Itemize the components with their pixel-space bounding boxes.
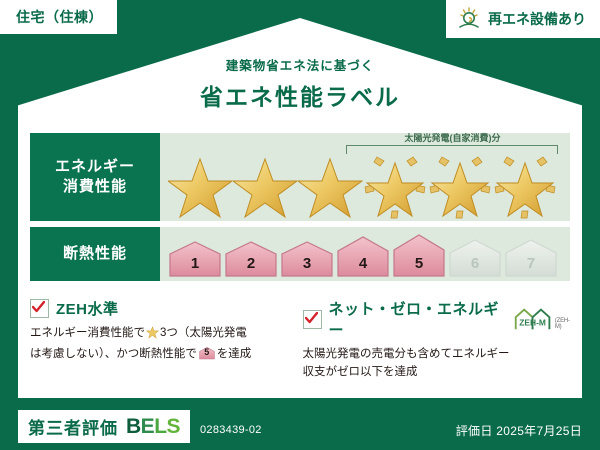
grade-number: 5 <box>392 255 446 272</box>
solar-star-icon <box>493 151 558 219</box>
grade-badge-inactive: 6 <box>448 236 502 278</box>
grade-badge: 4 <box>336 234 390 278</box>
insulation-grades-area: 1 2 3 4 5 <box>160 227 570 281</box>
energy-stars-area: 太陽光発電(自家消費)分 <box>160 133 570 221</box>
energy-performance-label-block: エネルギー 消費性能 <box>30 133 160 221</box>
sun-icon <box>456 6 482 32</box>
criterion-zeh: ZEH水準 エネルギー消費性能で3つ（太陽光発電 は考慮しない）、かつ断熱性能で… <box>30 298 303 382</box>
grade-badge-inactive: 7 <box>504 236 558 278</box>
third-party-label: 第三者評価 <box>28 414 118 439</box>
criterion-zeh-body: エネルギー消費性能で3つ（太陽光発電 は考慮しない）、かつ断熱性能で5を達成 <box>30 325 303 364</box>
bels-logo-block: 第三者評価 BELS <box>18 410 190 443</box>
criterion-zeh-title: ZEH水準 <box>56 298 119 319</box>
label-title-block: 建築物省エネ法に基づく 省エネ性能ラベル <box>0 55 600 112</box>
grade-badge-inline-number: 5 <box>199 346 215 360</box>
star-icon <box>146 330 159 342</box>
grade-badge: 1 <box>168 238 222 278</box>
insulation-performance-label-block: 断熱性能 <box>30 227 160 281</box>
grade-badge: 3 <box>280 238 334 278</box>
grade-number: 3 <box>280 255 334 272</box>
page-title: 省エネ性能ラベル <box>0 78 600 112</box>
zeh-m-logo: ZEH-M (ZEH-M) <box>512 306 575 332</box>
solar-star-icon <box>363 151 428 219</box>
criterion-net-zero-text1: 太陽光発電の売電分も含めてエネルギー <box>303 348 510 360</box>
evaluation-date-value: 2025年7月25日 <box>496 424 582 438</box>
insulation-label-line1: 断熱性能 <box>63 244 127 264</box>
title-subtitle: 建築物省エネ法に基づく <box>0 55 600 74</box>
energy-performance-label: 住宅（住棟） 再エネ設備あり 建築物省エネ法に基づく 省エネ性能ラベル <box>0 0 600 450</box>
rating-rows: エネルギー 消費性能 太陽光発電(自家消費)分 <box>30 133 570 287</box>
grade-number: 2 <box>224 255 278 272</box>
grade-badge: 5 <box>392 232 446 278</box>
criterion-zeh-text1: エネルギー消費性能で <box>30 327 145 339</box>
energy-performance-row: エネルギー 消費性能 太陽光発電(自家消費)分 <box>30 133 570 221</box>
solar-bracket-note: 太陽光発電(自家消費)分 <box>345 131 560 144</box>
zeh-m-caption: (ZEH-M) <box>555 318 575 332</box>
criterion-zeh-text3: は考慮しない）、かつ断熱性能で <box>30 348 197 360</box>
grade-badge: 2 <box>224 238 278 278</box>
solar-star-icon <box>428 151 493 219</box>
criterion-zeh-text2: 3つ（太陽光発電 <box>160 327 247 339</box>
grade-number: 1 <box>168 255 222 272</box>
bels-logo: BELS <box>126 415 180 439</box>
star-icon <box>233 151 298 219</box>
criterion-net-zero-body: 太陽光発電の売電分も含めてエネルギー 収支がゼロ以下を達成 <box>303 346 576 382</box>
grade-number: 6 <box>448 255 502 272</box>
star-icon <box>168 151 233 219</box>
check-icon <box>303 310 322 329</box>
criterion-net-zero: ネット・ゼロ・エネルギー ZEH-M (ZEH-M) 太陽光発電の売電分も含めて… <box>303 298 576 382</box>
energy-label-line2: 消費性能 <box>63 177 127 197</box>
criterion-zeh-header: ZEH水準 <box>30 298 303 319</box>
renewable-equipment-badge: 再エネ設備あり <box>446 0 600 38</box>
grade-badge-inline: 5 <box>199 346 215 360</box>
criterion-zeh-text4: を達成 <box>217 348 252 360</box>
evaluation-date: 評価日 2025年7月25日 <box>456 422 582 439</box>
building-type-tag: 住宅（住棟） <box>0 0 117 34</box>
bels-number: 0283439-02 <box>200 424 262 436</box>
grade-number: 7 <box>504 255 558 272</box>
criterion-net-zero-header: ネット・ゼロ・エネルギー ZEH-M (ZEH-M) <box>303 298 576 340</box>
grade-number: 4 <box>336 255 390 272</box>
svg-text:ZEH-M: ZEH-M <box>519 318 546 328</box>
criteria-section: ZEH水準 エネルギー消費性能で3つ（太陽光発電 は考慮しない）、かつ断熱性能で… <box>30 298 575 382</box>
energy-label-line1: エネルギー <box>55 157 135 177</box>
criterion-net-zero-title: ネット・ゼロ・エネルギー <box>329 298 503 340</box>
renewable-badge-label: 再エネ設備あり <box>488 9 586 29</box>
check-icon <box>30 299 49 318</box>
star-icon <box>298 151 363 219</box>
star-rating <box>168 149 558 219</box>
criterion-net-zero-text2: 収支がゼロ以下を達成 <box>303 366 418 378</box>
insulation-grade-scale: 1 2 3 4 5 <box>168 232 558 278</box>
insulation-performance-row: 断熱性能 1 2 <box>30 227 570 281</box>
label-footer: 第三者評価 BELS 0283439-02 評価日 2025年7月25日 <box>0 402 600 450</box>
evaluation-date-label: 評価日 <box>456 424 493 438</box>
